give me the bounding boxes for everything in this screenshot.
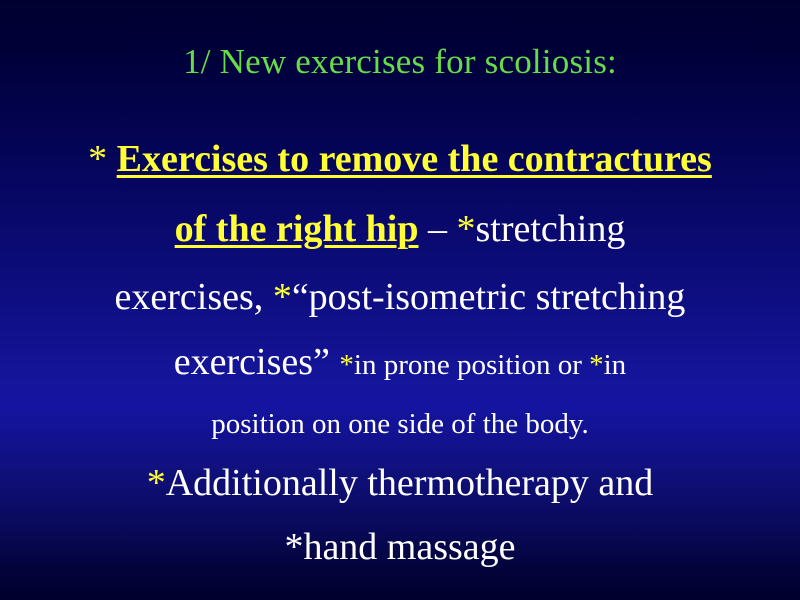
line-5: position on one side of the body.	[8, 398, 792, 455]
line-4-run-3: *	[589, 349, 604, 381]
line-5-run-0: position on one side of the body.	[211, 408, 589, 440]
line-2: of the right hip – *stretching	[8, 198, 792, 268]
line-7-run-0: *	[284, 526, 303, 568]
line-1-run-2: Exercises to remove the contractures	[117, 138, 712, 180]
slide-title-block: 1/ New exercises for scoliosis:	[0, 40, 800, 84]
line-4-run-1: *	[339, 349, 354, 381]
line-1-run-1	[107, 138, 117, 180]
line-2-run-3: stretching	[476, 208, 626, 250]
line-3: exercises, *“post-isometric stretching	[8, 268, 792, 334]
line-4: exercises” *in prone position or *in	[8, 334, 792, 398]
line-2-run-1: –	[419, 208, 457, 250]
line-1-run-0: *	[88, 138, 107, 180]
line-3-run-2: “post-isometric stretching	[292, 276, 686, 318]
line-1: * Exercises to remove the contractures	[8, 128, 792, 198]
slide-body-block: * Exercises to remove the contractures o…	[8, 128, 792, 583]
line-4-run-0: exercises”	[174, 341, 340, 383]
page-title: 1/ New exercises for scoliosis:	[183, 40, 617, 84]
line-4-run-2: in prone position or	[354, 349, 589, 381]
line-3-run-1: *	[273, 276, 292, 318]
slide-canvas: 1/ New exercises for scoliosis: * Exerci…	[0, 0, 800, 600]
line-6-run-0: *	[147, 462, 166, 504]
line-4-run-4: in	[604, 349, 627, 381]
line-2-run-0: of the right hip	[175, 208, 419, 250]
line-7: *hand massage	[8, 519, 792, 583]
line-3-run-0: exercises,	[115, 276, 273, 318]
line-2-run-2: *	[457, 208, 476, 250]
line-7-run-1: hand massage	[303, 526, 515, 568]
line-6: *Additionally thermotherapy and	[8, 455, 792, 519]
line-6-run-1: Additionally thermotherapy and	[166, 462, 654, 504]
